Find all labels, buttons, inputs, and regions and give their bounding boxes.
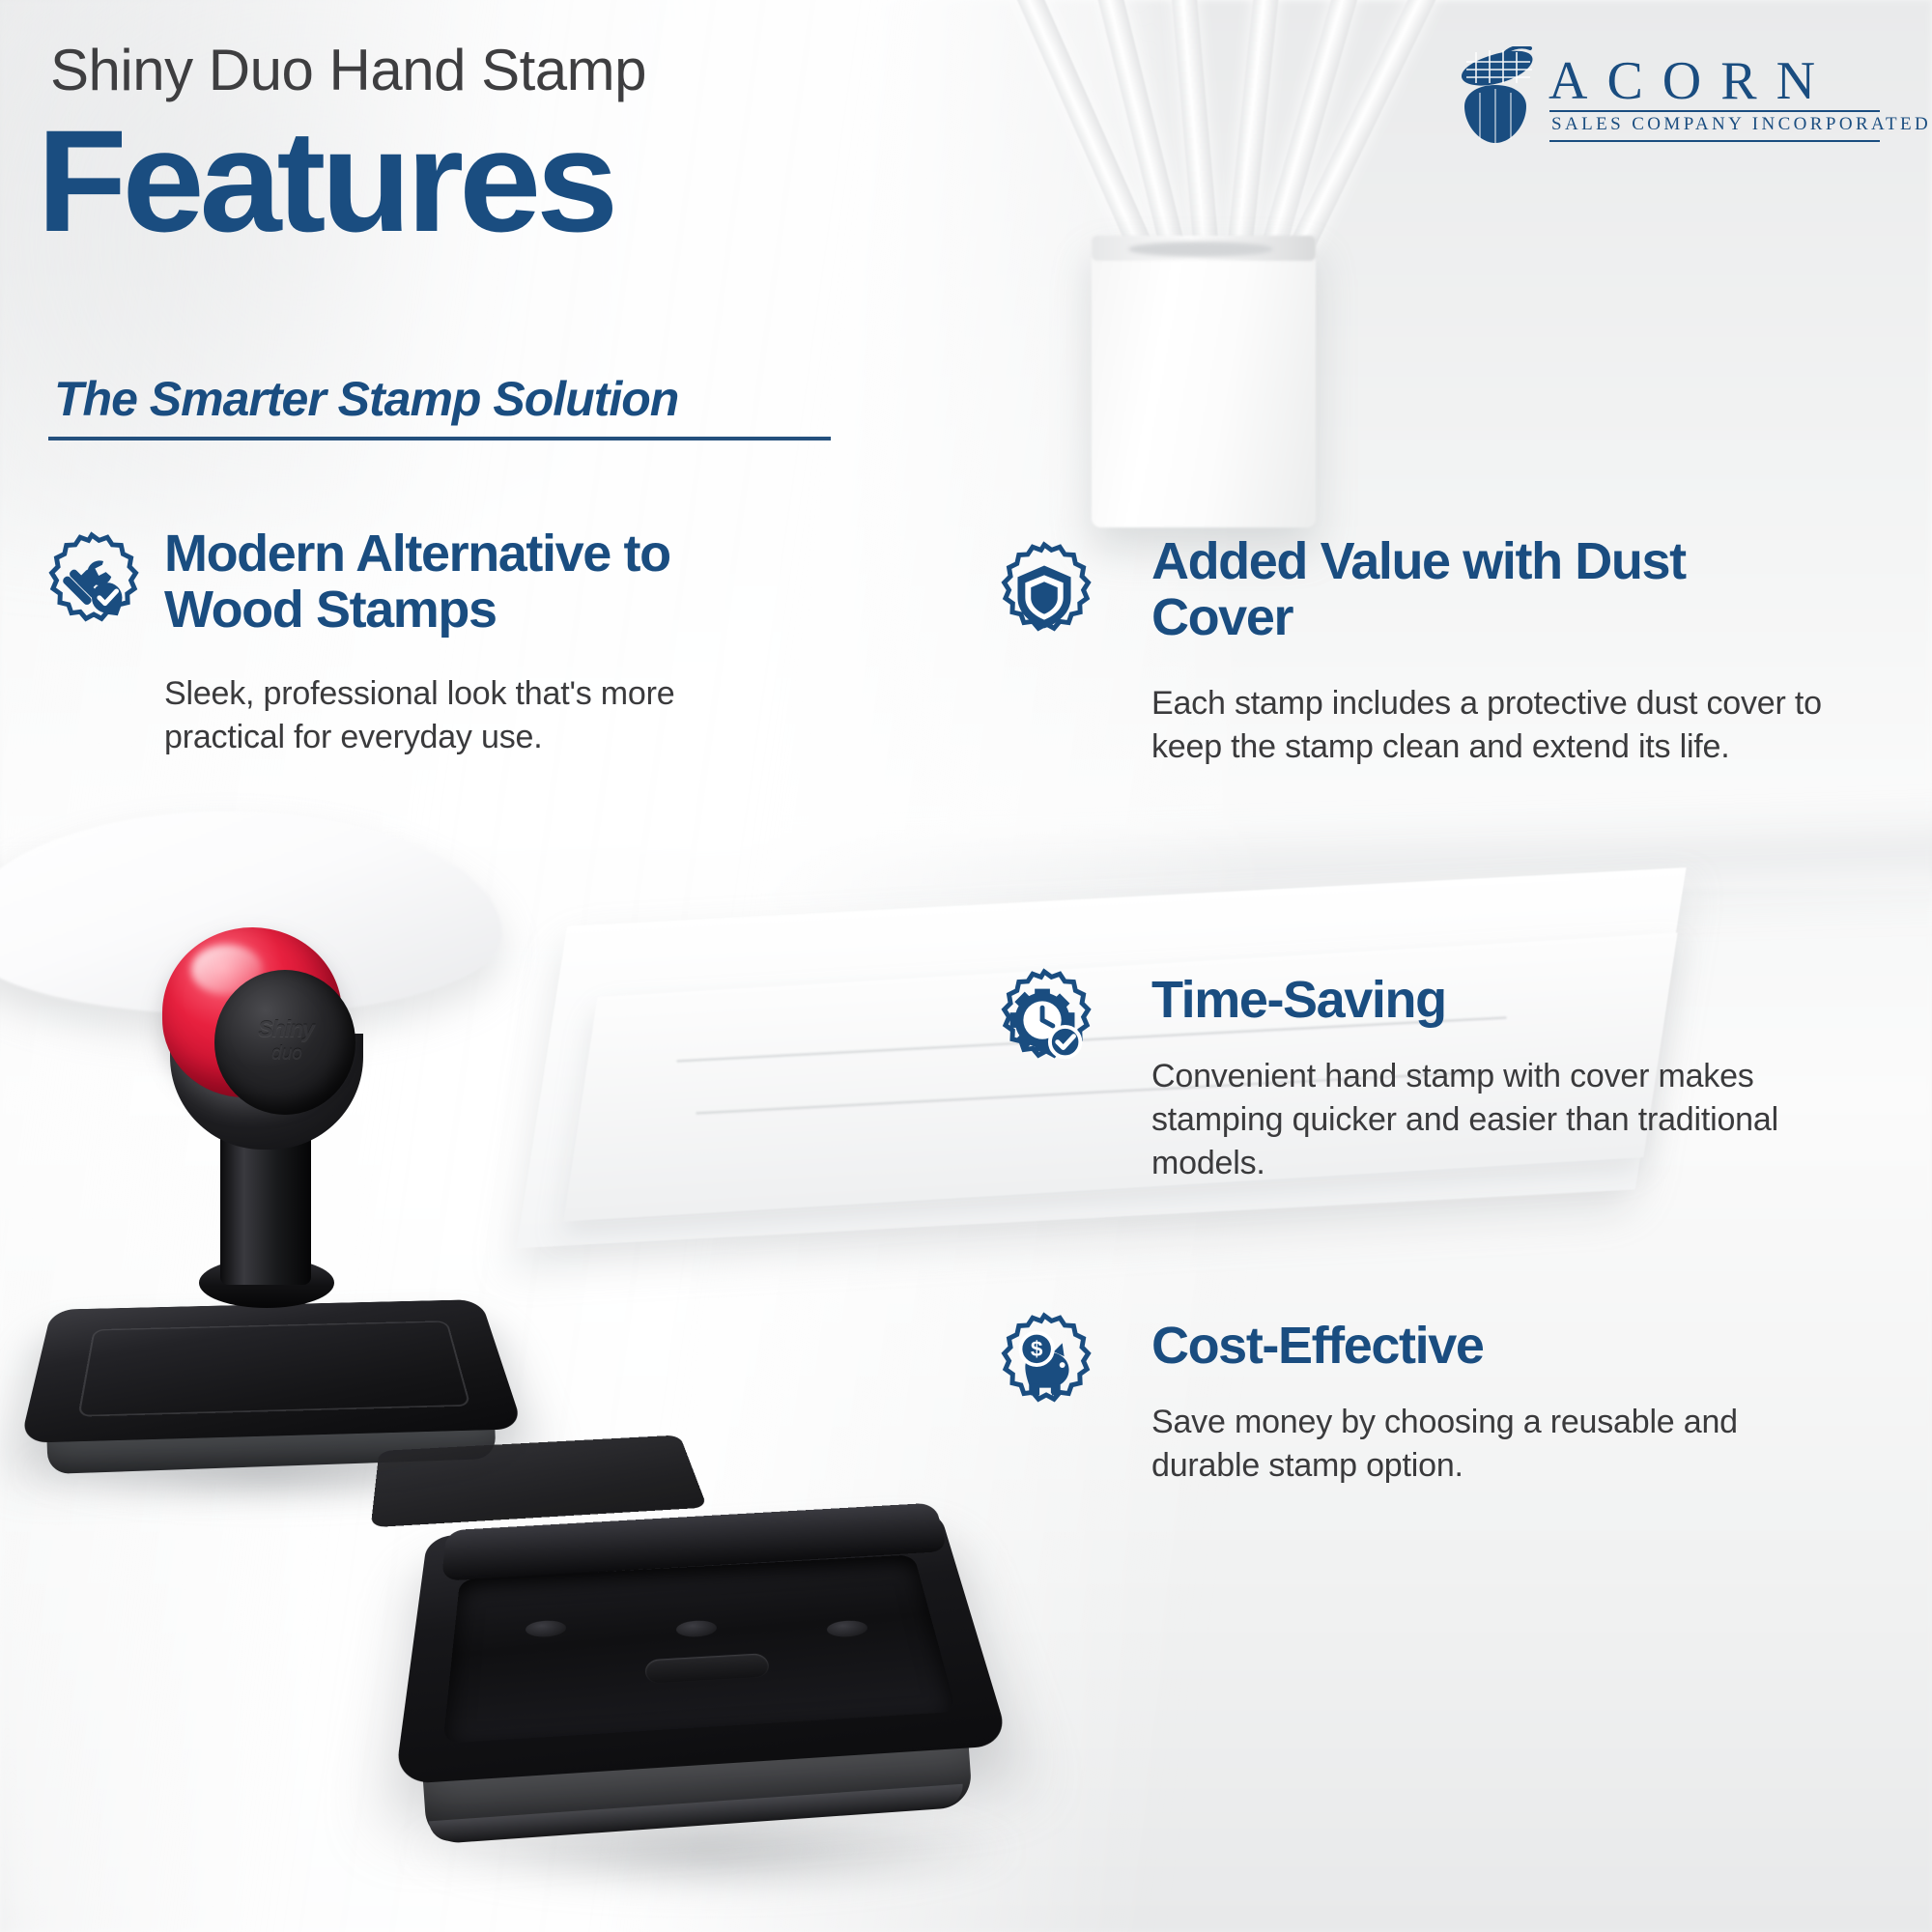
shield-badge-icon	[987, 539, 1101, 653]
feature-title: Modern Alternative to Wood Stamps	[164, 526, 782, 639]
logo-tagline: SALES COMPANY INCORPORATED	[1551, 114, 1931, 135]
logo-rule-bottom	[1549, 140, 1880, 142]
logo-wordmark: ACORN	[1548, 50, 1834, 112]
svg-text:$: $	[1031, 1337, 1043, 1361]
subtitle-underline	[48, 437, 831, 440]
acorn-logo[interactable]: ACORN SALES COMPANY INCORPORATED	[1447, 44, 1891, 149]
piggy-bank-badge-icon: $	[987, 1310, 1101, 1424]
feature-body: Save money by choosing a reusable and du…	[1151, 1401, 1847, 1488]
feature-title: Cost-Effective	[1151, 1318, 1828, 1374]
page-title: Features	[37, 108, 613, 253]
wrench-check-badge-icon	[35, 529, 149, 643]
feature-body: Sleek, professional look that's more pra…	[164, 672, 744, 759]
acorn-icon	[1447, 46, 1544, 147]
feature-title: Added Value with Dust Cover	[1151, 533, 1828, 646]
feature-body: Each stamp includes a protective dust co…	[1151, 682, 1847, 769]
logo-rule-top	[1549, 110, 1880, 112]
gear-clock-check-badge-icon	[987, 966, 1101, 1080]
eyebrow-text: Shiny Duo Hand Stamp	[50, 37, 646, 103]
feature-title: Time-Saving	[1151, 972, 1828, 1028]
feature-body: Convenient hand stamp with cover makes s…	[1151, 1055, 1847, 1185]
subtitle: The Smarter Stamp Solution	[54, 371, 678, 427]
